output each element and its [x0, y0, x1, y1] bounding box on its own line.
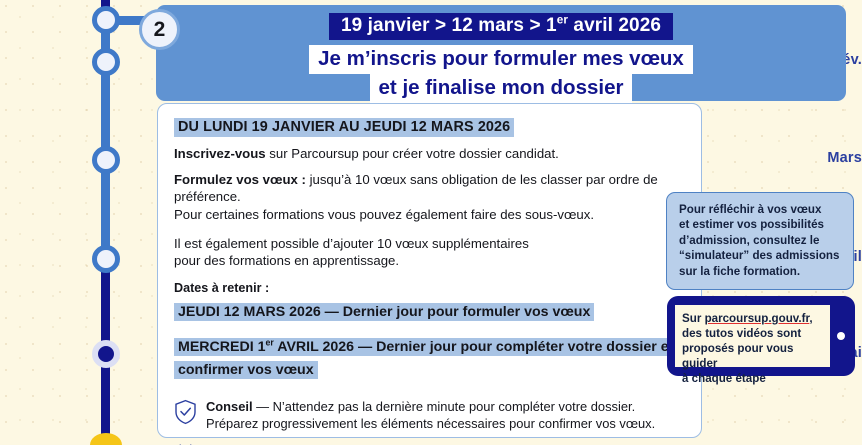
date-item-12-mars-text: JEUDI 12 MARS 2026 — Dernier jour pour f…: [178, 304, 590, 320]
tip-conseil-text: Conseil — N’attendez pas la dernière min…: [206, 398, 655, 432]
date-item-12-mars: JEUDI 12 MARS 2026 — Dernier jour pour f…: [174, 301, 685, 324]
section-heading-text: DU LUNDI 19 JANVIER AU JEUDI 12 MARS 202…: [174, 118, 514, 137]
banner-date-range: 19 janvier > 12 mars > 1er avril 2026: [329, 13, 673, 40]
tip-conseil-bold: Conseil: [206, 399, 253, 414]
timeline-node-may-active: [92, 340, 120, 368]
banner-date-range-post: avril 2026: [568, 15, 661, 36]
callout-tutos-line1-pre: Sur: [682, 312, 705, 325]
date-item-1-avril: MERCREDI 1er AVRIL 2026 — Dernier jour p…: [174, 336, 685, 382]
paragraph-formulez-bold: Formulez vos vœux :: [174, 172, 306, 187]
header-banner: 19 janvier > 12 mars > 1er avril 2026 Je…: [156, 5, 846, 101]
callout-simulateur: Pour réfléchir à vos vœux et estimer vos…: [666, 192, 854, 290]
banner-title-line-2: et je finalise mon dossier: [370, 74, 633, 103]
tablet-home-dot-icon: [837, 332, 845, 340]
paragraph-apprentissage-line1: Il est également possible d’ajouter 10 v…: [174, 236, 529, 251]
callout-simulateur-line4: “simulateur” des admissions: [679, 249, 839, 262]
date-item-1-avril-pre: MERCREDI 1: [178, 339, 266, 355]
callout-tutos-frame: Sur parcoursup.gouv.fr, des tutos vidéos…: [667, 296, 855, 376]
date-item-1-avril-sup: er: [266, 337, 274, 347]
banner-date-range-sup: er: [557, 14, 568, 27]
callout-simulateur-line2: et estimer vos possibilités: [679, 218, 824, 231]
callout-tutos-line1-post: ,: [809, 312, 812, 325]
timeline-label-mars: Mars: [788, 150, 862, 166]
paragraph-formulez-line2: Pour certaines formations vous pouvez ég…: [174, 207, 594, 222]
tip-conseil-line1: — N’attendez pas la dernière minute pour…: [253, 399, 636, 414]
step-number-badge: 2: [139, 9, 180, 50]
timeline-node-february: [92, 48, 120, 76]
paragraph-inscrivez-bold: Inscrivez-vous: [174, 146, 266, 161]
infographic-page: Fév. Mars Avril Mai 2 19 janvier > 12 ma…: [0, 0, 862, 445]
callout-tutos-line4: à chaque étape: [682, 372, 766, 385]
paragraph-inscrivez: Inscrivez-vous sur Parcoursup pour créer…: [174, 145, 685, 163]
shield-check-icon: [174, 399, 197, 425]
parcoursup-link[interactable]: parcoursup.gouv.fr: [705, 312, 810, 325]
paragraph-apprentissage-line2: pour des formations en apprentissage.: [174, 253, 399, 268]
content-panel: DU LUNDI 19 JANVIER AU JEUDI 12 MARS 202…: [157, 103, 702, 438]
callout-tutos-line3: proposés pour vous guider: [682, 342, 793, 370]
callout-tutos-line2: des tutos vidéos sont: [682, 327, 801, 340]
banner-title: Je m’inscris pour formuler mes vœux et j…: [156, 45, 846, 103]
timeline-bottom-marker: [90, 433, 122, 445]
callout-simulateur-line5: sur la fiche formation.: [679, 265, 800, 278]
timeline-node-march: [92, 146, 120, 174]
paragraph-formulez: Formulez vos vœux : jusqu’à 10 vœux sans…: [174, 171, 685, 224]
callout-tutos-screen: Sur parcoursup.gouv.fr, des tutos vidéos…: [675, 305, 830, 367]
banner-title-line-1: Je m’inscris pour formuler mes vœux: [309, 45, 693, 74]
tip-conseil: Conseil — N’attendez pas la dernière min…: [174, 398, 685, 432]
paragraph-apprentissage: Il est également possible d’ajouter 10 v…: [174, 235, 685, 270]
dates-label: Dates à retenir :: [174, 281, 685, 295]
tip-conseil-line2: Préparez progressivement les éléments né…: [206, 416, 655, 431]
timeline-node-january: [92, 6, 120, 34]
timeline-node-april: [92, 245, 120, 273]
section-heading: DU LUNDI 19 JANVIER AU JEUDI 12 MARS 202…: [174, 118, 685, 137]
paragraph-inscrivez-rest: sur Parcoursup pour créer votre dossier …: [266, 146, 559, 161]
banner-date-range-pre: 19 janvier > 12 mars > 1: [341, 15, 557, 36]
callout-simulateur-line1: Pour réfléchir à vos vœux: [679, 203, 821, 216]
callout-simulateur-line3: d’admission, consultez le: [679, 234, 819, 247]
